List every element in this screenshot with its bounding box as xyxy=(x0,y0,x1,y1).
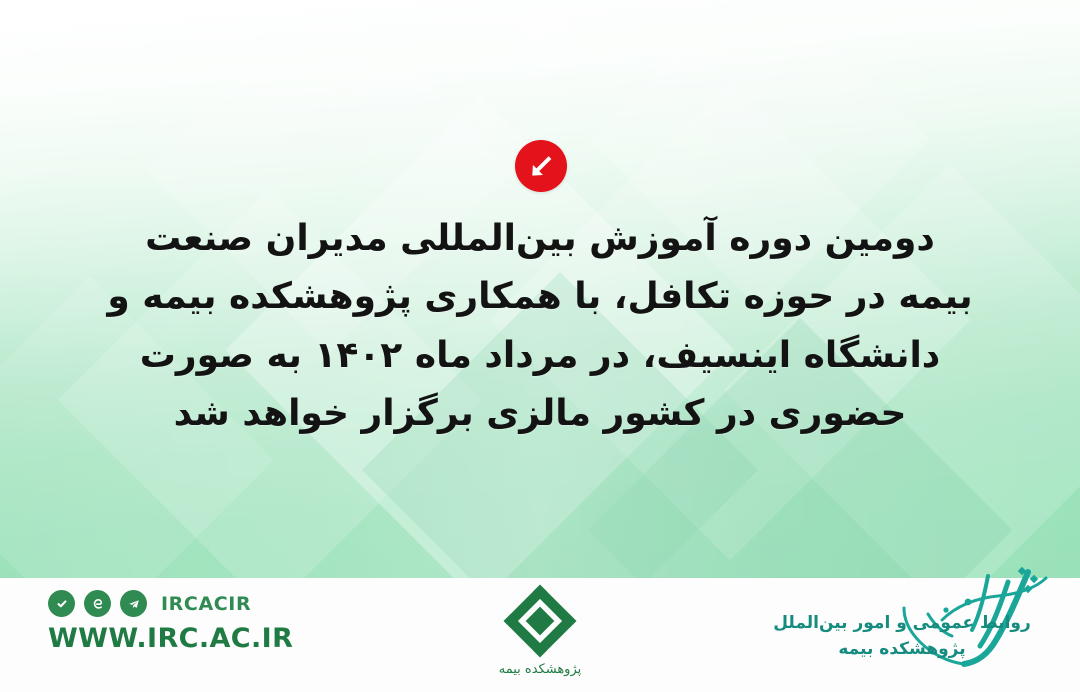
down-left-arrow-icon xyxy=(515,140,567,192)
public-relations-text: روابط عمومی و امور بین‌الملل پژوهشکده بی… xyxy=(752,610,1052,663)
headline-line-3: دانشگاه اینسیف، در مرداد ماه ۱۴۰۲ به صور… xyxy=(60,327,1020,385)
footer-bar: IRCACIR WWW.IRC.AC.IR xyxy=(0,578,1080,692)
pr-line-2: پژوهشکده بیمه xyxy=(752,636,1052,662)
insurance-research-center-logo xyxy=(501,582,579,660)
pr-line-1: روابط عمومی و امور بین‌الملل xyxy=(752,610,1052,636)
logo-caption: پژوهشکده بیمه xyxy=(499,662,582,677)
headline-text: دومین دوره آموزش بین‌المللی مدیران صنعت … xyxy=(60,210,1020,443)
footer-right-group: روابط عمومی و امور بین‌الملل پژوهشکده بی… xyxy=(752,578,1052,692)
headline-line-1: دومین دوره آموزش بین‌المللی مدیران صنعت xyxy=(60,210,1020,268)
poster-canvas: دومین دوره آموزش بین‌المللی مدیران صنعت … xyxy=(0,0,1080,692)
headline-line-2: بیمه در حوزه تکافل، با همکاری پژوهشکده ب… xyxy=(60,268,1020,326)
headline-line-4: حضوری در کشور مالزی برگزار خواهد شد xyxy=(60,385,1020,443)
